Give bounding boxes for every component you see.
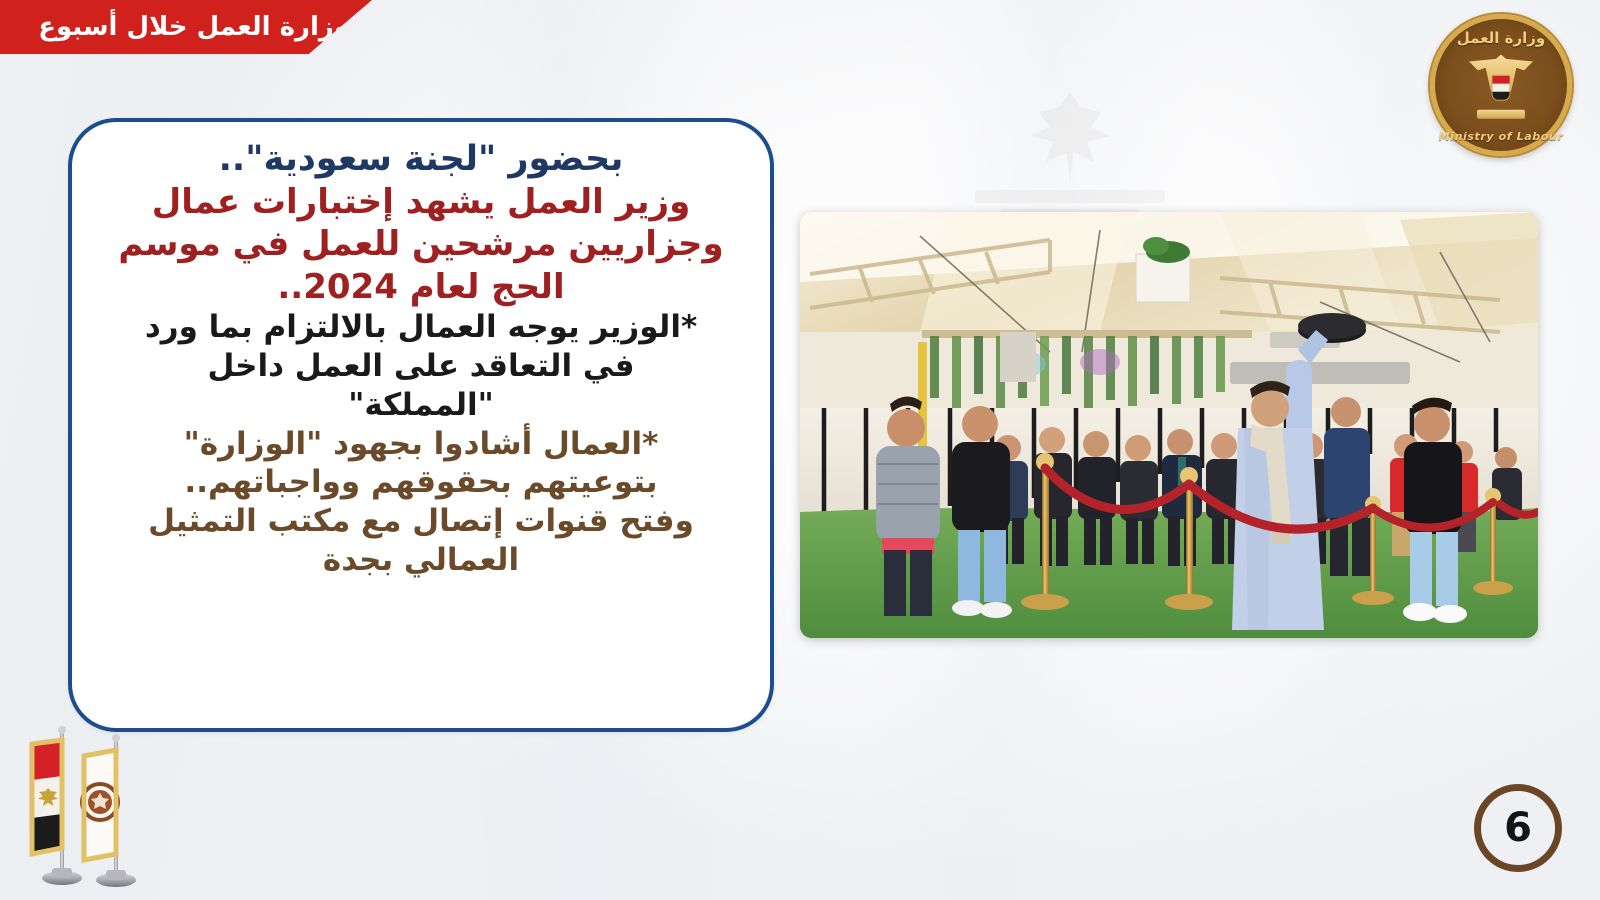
ministry-logo-latin-title: Ministry of Labour <box>1435 130 1567 143</box>
slide-root: وزارة العمل خلال أسبوع وزارة العمل Minis… <box>0 0 1600 900</box>
watermark-line <box>975 190 1165 203</box>
page-number-badge: 6 <box>1474 784 1562 872</box>
page-number-text: 6 <box>1504 808 1532 848</box>
desk-flags <box>18 722 183 892</box>
egypt-shield-icon <box>1492 75 1511 101</box>
text-line-black-2: في التعاقد على العمل داخل <box>106 348 736 386</box>
shield-stripe-white <box>1493 84 1510 92</box>
shield-stripe-black <box>1493 92 1510 100</box>
text-line-brown-2: بتوعيتهم بحقوقهم وواجباتهم.. <box>106 464 736 502</box>
text-line-red-2: وجزاريين مرشحين للعمل في موسم <box>106 224 736 265</box>
ministry-logo: وزارة العمل Ministry of Labour <box>1430 14 1572 156</box>
eagle-emblem-icon <box>1469 53 1533 115</box>
ministry-logo-inner: وزارة العمل Ministry of Labour <box>1435 19 1567 151</box>
event-photo-illustration <box>800 212 1538 638</box>
header-banner-text: وزارة العمل خلال أسبوع <box>38 14 350 40</box>
header-banner: وزارة العمل خلال أسبوع <box>0 0 372 54</box>
shield-stripe-red <box>1493 76 1510 84</box>
text-card: بحضور "لجنة سعودية".. وزير العمل يشهد إخ… <box>68 118 774 732</box>
desk-flags-illustration <box>18 722 183 892</box>
text-line-red-3: الحج لعام 2024.. <box>106 267 736 308</box>
text-line-brown-4: العمالي بجدة <box>106 542 736 580</box>
eagle-scroll-shape <box>1477 110 1525 119</box>
text-line-brown-3: وفتح قنوات إتصال مع مكتب التمثيل <box>106 503 736 541</box>
text-line-headline: بحضور "لجنة سعودية".. <box>106 138 736 181</box>
watermark-eagle-icon <box>1027 92 1113 184</box>
text-line-red-1: وزير العمل يشهد إختبارات عمال <box>106 182 736 223</box>
event-photo <box>800 212 1538 638</box>
text-line-brown-1: *العمال أشادوا بجهود "الوزارة" <box>106 426 736 464</box>
ministry-logo-arabic-title: وزارة العمل <box>1435 29 1567 47</box>
text-line-black-3: "المملكة" <box>106 387 736 425</box>
text-line-black-1: *الوزير يوجه العمال بالالتزام بما ورد <box>106 309 736 347</box>
